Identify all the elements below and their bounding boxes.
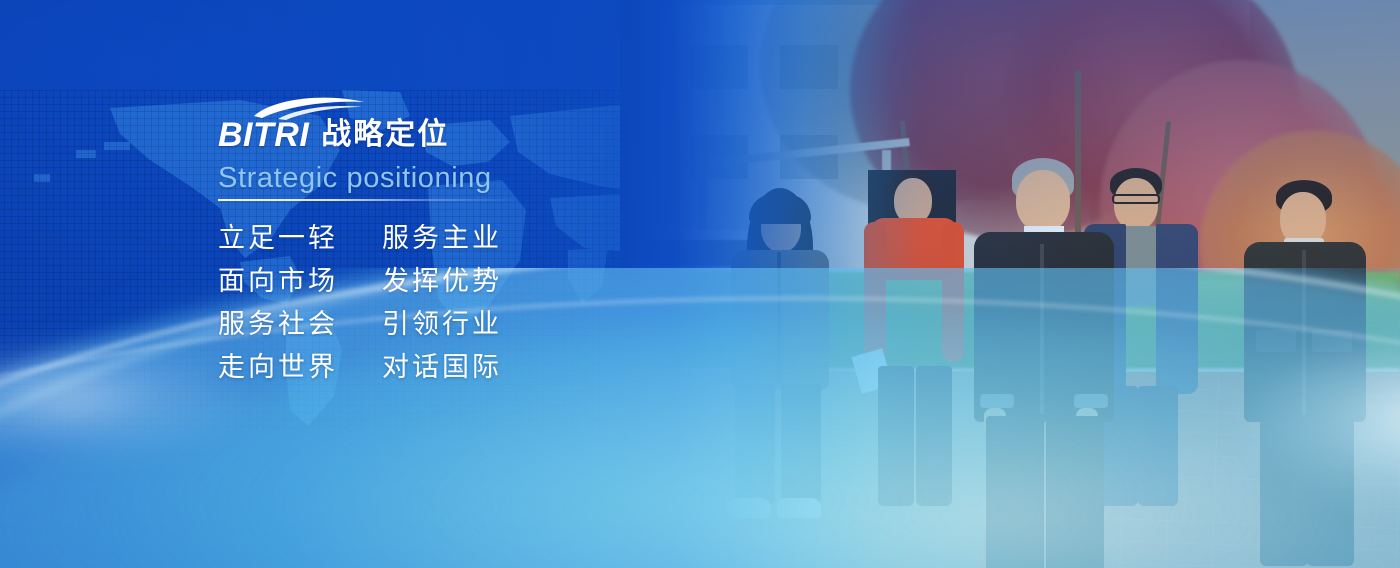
slogan-row: 走向世界 对话国际 [218, 354, 778, 381]
slogan-left: 面向市场 [218, 268, 338, 295]
banner-content: BITRI 战略定位 Strategic positioning 立足一轻 服务… [218, 110, 778, 381]
banner-root: BITRI 战略定位 Strategic positioning 立足一轻 服务… [0, 0, 1400, 568]
banner-subtitle: Strategic positioning [218, 162, 778, 195]
slogan-right: 引领行业 [382, 311, 502, 338]
slogan-row: 面向市场 发挥优势 [218, 268, 778, 295]
slogan-list: 立足一轻 服务主业 面向市场 发挥优势 服务社会 引领行业 走向世界 对话国际 [218, 225, 778, 381]
slogan-right: 服务主业 [382, 225, 502, 252]
brand-lockup: BITRI 战略定位 [218, 110, 778, 152]
slogan-row: 立足一轻 服务主业 [218, 225, 778, 252]
brand-latin: BITRI [218, 114, 309, 152]
slogan-left: 走向世界 [218, 354, 338, 381]
slogan-left: 服务社会 [218, 311, 338, 338]
slogan-right: 对话国际 [382, 354, 502, 381]
slogan-right: 发挥优势 [382, 268, 502, 295]
slogan-row: 服务社会 引领行业 [218, 311, 778, 338]
slogan-left: 立足一轻 [218, 225, 338, 252]
subtitle-divider [218, 199, 518, 201]
brand-cn: 战略定位 [321, 120, 449, 152]
